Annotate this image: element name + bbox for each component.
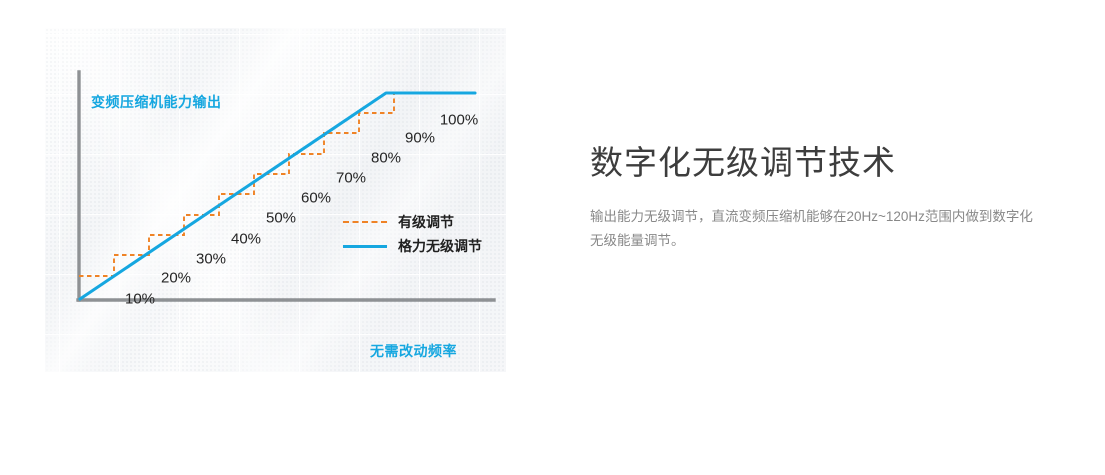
step-label-70: 70%	[336, 170, 366, 187]
step-label-40: 40%	[231, 231, 261, 248]
legend-label-stepless: 格力无级调节	[398, 236, 482, 256]
legend-item-stepped: 有级调节	[343, 210, 482, 234]
step-label-10: 10%	[125, 291, 155, 308]
legend-solid-line-icon	[343, 245, 387, 248]
feature-text-column: 数字化无级调节技术 输出能力无级调节，直流变频压缩机能够在20Hz~120Hz范…	[590, 142, 1060, 253]
page-root: 变频压缩机能力输出 无需改动频率 10% 20% 30% 40% 50% 60%…	[0, 0, 1105, 475]
step-label-100: 100%	[440, 112, 478, 129]
x-axis-caption: 无需改动频率	[370, 341, 457, 361]
step-label-20: 20%	[161, 270, 191, 287]
step-label-50: 50%	[266, 210, 296, 227]
step-label-90: 90%	[405, 130, 435, 147]
chart-panel: 变频压缩机能力输出 无需改动频率 10% 20% 30% 40% 50% 60%…	[45, 28, 506, 372]
stepless-adjustment-series	[80, 93, 475, 299]
step-label-80: 80%	[371, 150, 401, 167]
legend-item-stepless: 格力无级调节	[343, 234, 482, 258]
y-axis-caption: 变频压缩机能力输出	[91, 92, 222, 112]
legend-dashed-line-icon	[343, 221, 387, 223]
feature-title: 数字化无级调节技术	[590, 142, 1060, 183]
legend-label-stepped: 有级调节	[398, 212, 454, 232]
capacity-output-chart	[45, 28, 506, 372]
feature-description: 输出能力无级调节，直流变频压缩机能够在20Hz~120Hz范围内做到数字化无级能…	[590, 205, 1045, 252]
step-label-30: 30%	[196, 251, 226, 268]
chart-legend: 有级调节 格力无级调节	[343, 210, 482, 258]
step-label-60: 60%	[301, 190, 331, 207]
